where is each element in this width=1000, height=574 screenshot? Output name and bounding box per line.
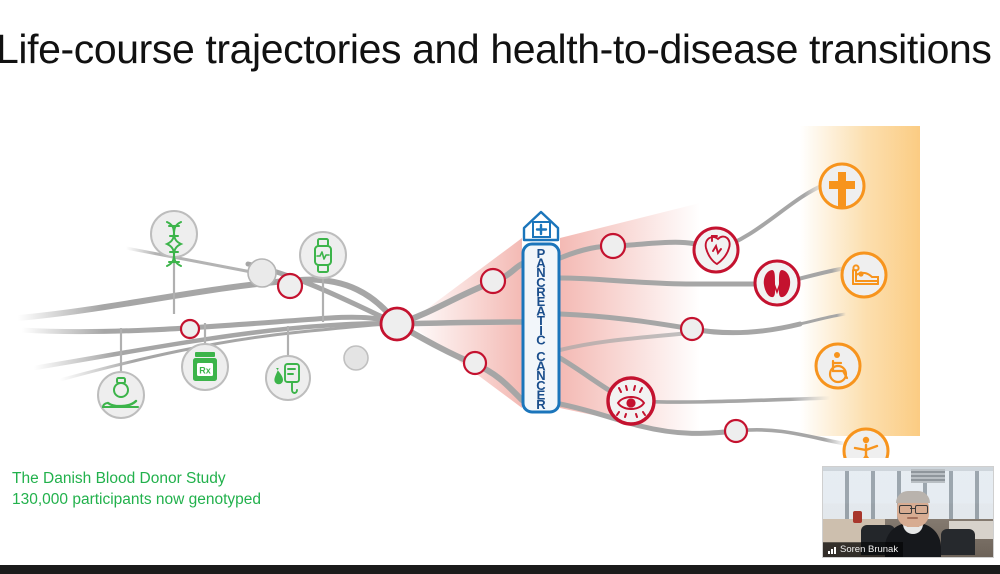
svg-text:Rx: Rx xyxy=(199,366,211,376)
eyeglasses-bridge xyxy=(910,508,915,509)
page-title: Life-course trajectories and health-to-d… xyxy=(0,26,996,73)
desk-object xyxy=(853,511,862,523)
eyeglasses-left-lens xyxy=(899,505,912,514)
bottom-bar xyxy=(0,565,1000,574)
active-person-icon[interactable] xyxy=(844,429,888,458)
exposure-icon-group: Rx xyxy=(98,211,346,418)
window-blind xyxy=(911,469,945,483)
hospital-bed-icon[interactable] xyxy=(842,253,886,297)
caption-line-1: The Danish Blood Donor Study xyxy=(12,468,261,489)
kidneys-icon[interactable] xyxy=(755,261,799,305)
participant-name: Soren Brunak xyxy=(840,544,898,555)
wheelchair-icon[interactable] xyxy=(816,344,860,388)
hand-sample-icon[interactable] xyxy=(98,328,144,418)
hospital-icon xyxy=(524,212,558,240)
heart-icon[interactable] xyxy=(694,228,738,272)
signal-bars-icon xyxy=(828,546,836,554)
presentation-slide: Life-course trajectories and health-to-d… xyxy=(0,0,1000,565)
participant-hair xyxy=(896,491,930,503)
iv-drip-icon[interactable] xyxy=(266,326,310,400)
life-course-trajectory-diagram: Rx xyxy=(0,118,1000,458)
caption: The Danish Blood Donor Study 130,000 par… xyxy=(12,468,261,510)
trajectory-node-plain xyxy=(248,259,368,370)
pancreatic-cancer-box[interactable]: PANCREATIC CANCER xyxy=(523,244,559,412)
eyeglasses-right-lens xyxy=(915,505,928,514)
webcam-thumbnail[interactable]: Soren Brunak xyxy=(822,466,994,558)
eye-icon[interactable] xyxy=(608,378,654,424)
webcam-name-bar: Soren Brunak xyxy=(823,542,903,557)
participant-mouth xyxy=(907,517,918,519)
caption-line-2: 130,000 participants now genotyped xyxy=(12,489,261,510)
cross-death-icon[interactable] xyxy=(820,164,864,208)
chair-right xyxy=(941,529,975,555)
